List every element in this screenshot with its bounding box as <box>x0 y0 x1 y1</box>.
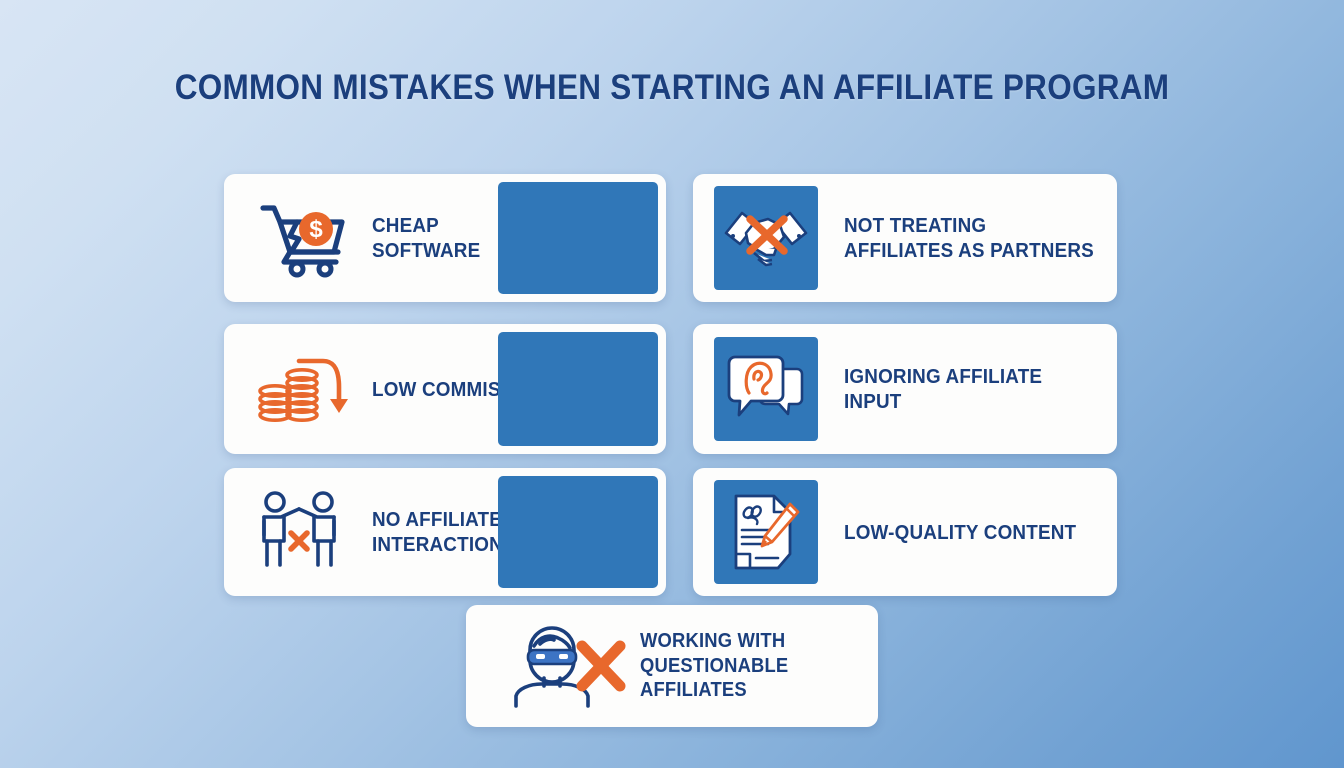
card-label-not-treating-affiliates-as-partners: NOT TREATING AFFILIATES AS PARTNERS <box>844 213 1094 263</box>
infographic-canvas: COMMON MISTAKES WHEN STARTING AN AFFILIA… <box>0 0 1344 768</box>
shopping-cart-broken-dollar-icon: $ <box>250 192 356 284</box>
handshake-crossed-out-icon <box>722 203 810 273</box>
card-no-affiliate-interaction[interactable]: NO AFFILIATE INTERACTION <box>224 468 666 596</box>
two-people-crossed-out-icon <box>250 486 356 578</box>
card-not-treating-affiliates-as-partners[interactable]: NOT TREATING AFFILIATES AS PARTNERS <box>693 174 1117 302</box>
card-ignoring-affiliate-input[interactable]: IGNORING AFFILIATE INPUT <box>693 324 1117 454</box>
icon-tile <box>714 480 818 584</box>
decorative-blue-block <box>498 332 658 446</box>
svg-text:$: $ <box>309 216 323 243</box>
coin-stacks-down-arrow-icon <box>250 343 356 435</box>
decorative-blue-block <box>498 182 658 294</box>
speech-bubbles-ear-icon <box>727 353 805 425</box>
card-label-cheap-software: CHEAP SOFTWARE <box>372 213 480 263</box>
icon-tile <box>714 186 818 290</box>
card-low-commissions[interactable]: LOW COMMISSIONS <box>224 324 666 454</box>
decorative-blue-block <box>498 476 658 588</box>
card-label-no-affiliate-interaction: NO AFFILIATE INTERACTION <box>372 507 503 557</box>
card-label-working-with-questionable-affiliates: WORKING WITH QUESTIONABLE AFFILIATES <box>640 629 788 702</box>
masked-person-crossed-out-icon <box>508 620 628 712</box>
page-title: COMMON MISTAKES WHEN STARTING AN AFFILIA… <box>67 68 1277 108</box>
card-low-quality-content[interactable]: LOW-QUALITY CONTENT <box>693 468 1117 596</box>
card-working-with-questionable-affiliates[interactable]: WORKING WITH QUESTIONABLE AFFILIATES <box>466 605 878 727</box>
icon-tile <box>714 337 818 441</box>
card-label-ignoring-affiliate-input: IGNORING AFFILIATE INPUT <box>844 364 1042 414</box>
card-label-low-quality-content: LOW-QUALITY CONTENT <box>844 520 1076 545</box>
card-cheap-software[interactable]: $ CHEAP SOFTWARE <box>224 174 666 302</box>
document-pencil-icon <box>728 492 804 572</box>
